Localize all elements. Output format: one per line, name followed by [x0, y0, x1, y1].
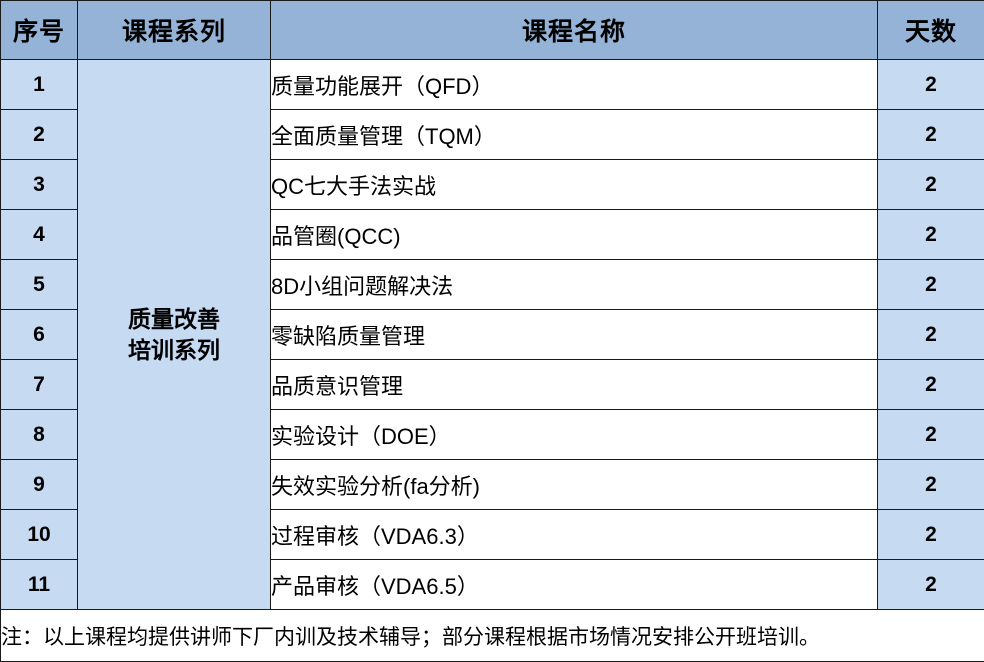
cell-days: 2 — [878, 210, 984, 260]
cell-index: 8 — [1, 410, 78, 460]
cell-course-name: 质量功能展开（QFD） — [271, 60, 878, 110]
cell-days: 2 — [878, 360, 984, 410]
cell-index: 3 — [1, 160, 78, 210]
table-row: 1质量改善 培训系列质量功能展开（QFD）2 — [1, 60, 984, 110]
column-header-series: 课程系列 — [78, 1, 271, 60]
cell-course-name: 品管圈(QCC) — [271, 210, 878, 260]
column-header-name: 课程名称 — [271, 1, 878, 60]
header-row: 序号 课程系列 课程名称 天数 — [1, 1, 984, 60]
table-footer: 注：以上课程均提供讲师下厂内训及技术辅导；部分课程根据市场情况安排公开班培训。 — [1, 610, 984, 662]
cell-course-name: 零缺陷质量管理 — [271, 310, 878, 360]
cell-course-name: 实验设计（DOE） — [271, 410, 878, 460]
course-catalog-sheet: 序号 课程系列 课程名称 天数 1质量改善 培训系列质量功能展开（QFD）22全… — [0, 0, 984, 661]
cell-course-name: 产品审核（VDA6.5） — [271, 560, 878, 610]
cell-days: 2 — [878, 460, 984, 510]
cell-index: 1 — [1, 60, 78, 110]
cell-index: 6 — [1, 310, 78, 360]
cell-days: 2 — [878, 60, 984, 110]
table-body: 1质量改善 培训系列质量功能展开（QFD）22全面质量管理（TQM）23QC七大… — [1, 60, 984, 610]
cell-course-name: 8D小组问题解决法 — [271, 260, 878, 310]
cell-days: 2 — [878, 410, 984, 460]
cell-days: 2 — [878, 510, 984, 560]
cell-index: 9 — [1, 460, 78, 510]
cell-days: 2 — [878, 110, 984, 160]
cell-index: 7 — [1, 360, 78, 410]
cell-index: 10 — [1, 510, 78, 560]
cell-course-name: 过程审核（VDA6.3） — [271, 510, 878, 560]
cell-days: 2 — [878, 260, 984, 310]
cell-index: 2 — [1, 110, 78, 160]
table-header: 序号 课程系列 课程名称 天数 — [1, 1, 984, 60]
cell-index: 4 — [1, 210, 78, 260]
cell-days: 2 — [878, 310, 984, 360]
note-row: 注：以上课程均提供讲师下厂内训及技术辅导；部分课程根据市场情况安排公开班培训。 — [1, 610, 984, 662]
cell-course-name: 全面质量管理（TQM） — [271, 110, 878, 160]
cell-index: 5 — [1, 260, 78, 310]
cell-series: 质量改善 培训系列 — [78, 60, 271, 610]
footer-note: 注：以上课程均提供讲师下厂内训及技术辅导；部分课程根据市场情况安排公开班培训。 — [1, 610, 984, 662]
course-table: 序号 课程系列 课程名称 天数 1质量改善 培训系列质量功能展开（QFD）22全… — [0, 0, 984, 662]
column-header-index: 序号 — [1, 1, 78, 60]
cell-days: 2 — [878, 160, 984, 210]
cell-days: 2 — [878, 560, 984, 610]
cell-course-name: QC七大手法实战 — [271, 160, 878, 210]
cell-course-name: 品质意识管理 — [271, 360, 878, 410]
column-header-days: 天数 — [878, 1, 984, 60]
cell-course-name: 失效实验分析(fa分析) — [271, 460, 878, 510]
cell-index: 11 — [1, 560, 78, 610]
